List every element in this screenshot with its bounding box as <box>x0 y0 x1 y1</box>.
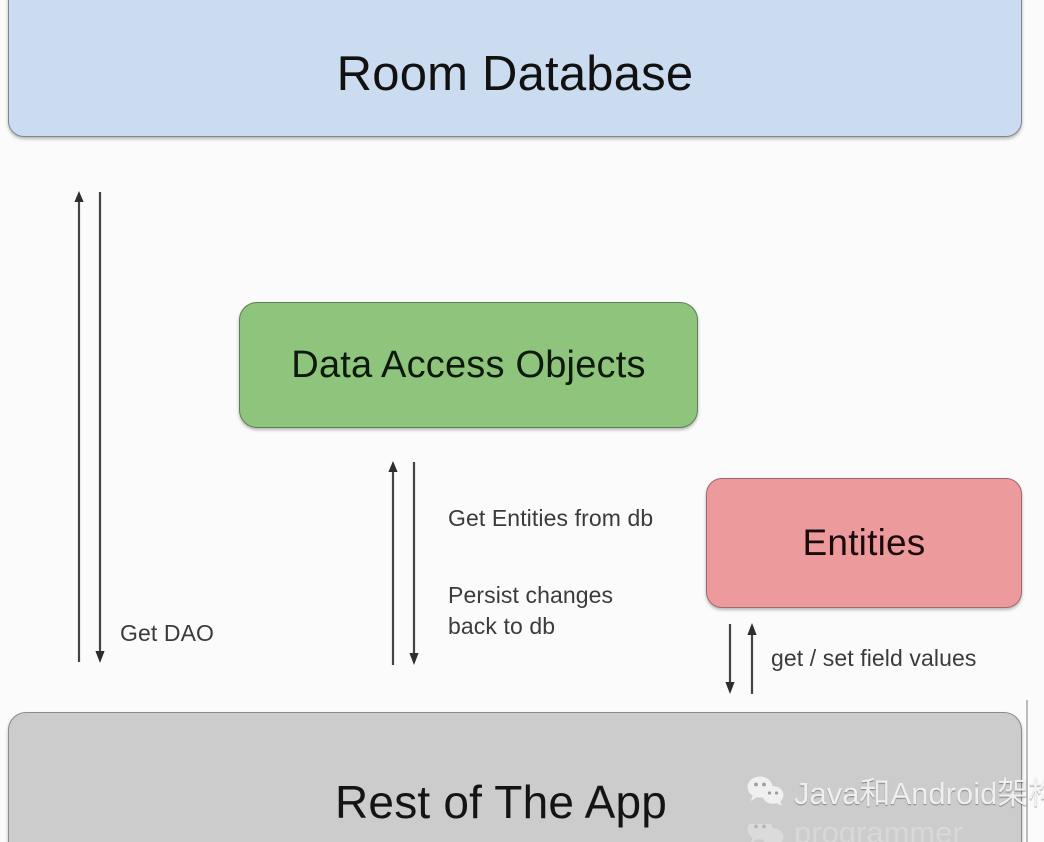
diagram-canvas: Room Database Data Access Objects Entiti… <box>0 0 1044 842</box>
node-data-access-objects: Data Access Objects <box>239 302 698 428</box>
edge-label-get-dao: Get DAO <box>120 618 214 649</box>
wechat-icon-secondary <box>747 824 785 842</box>
watermark: Java和Android架构 <box>747 768 1044 813</box>
arrow-room-to-app-down <box>92 190 110 665</box>
watermark-second-line-text: programmer <box>794 824 963 842</box>
watermark-second-line: programmer <box>747 824 963 842</box>
edge-label-persist-changes-back-to-db: Persist changes back to db <box>448 580 613 641</box>
arrow-app-to-dao-up <box>385 460 403 667</box>
node-room-database: Room Database <box>8 0 1022 137</box>
node-entities-label: Entities <box>803 522 926 564</box>
node-rest-of-the-app-label: Rest of The App <box>335 775 667 829</box>
wechat-icon <box>747 775 785 807</box>
arrow-dao-to-app-down <box>406 460 424 667</box>
watermark-account-name: Java和Android架构 <box>794 768 1044 813</box>
arrow-app-to-entities-up <box>744 622 762 696</box>
arrow-app-to-room-up <box>71 190 89 665</box>
node-data-access-objects-label: Data Access Objects <box>291 344 645 387</box>
arrow-entities-to-app-down <box>722 622 740 696</box>
page-edge-rule <box>1026 700 1028 842</box>
node-room-database-label: Room Database <box>337 46 694 102</box>
edge-label-get-entities-from-db: Get Entities from db <box>448 503 653 534</box>
edge-label-get-set-field-values: get / set field values <box>771 643 976 674</box>
node-entities: Entities <box>706 478 1022 608</box>
